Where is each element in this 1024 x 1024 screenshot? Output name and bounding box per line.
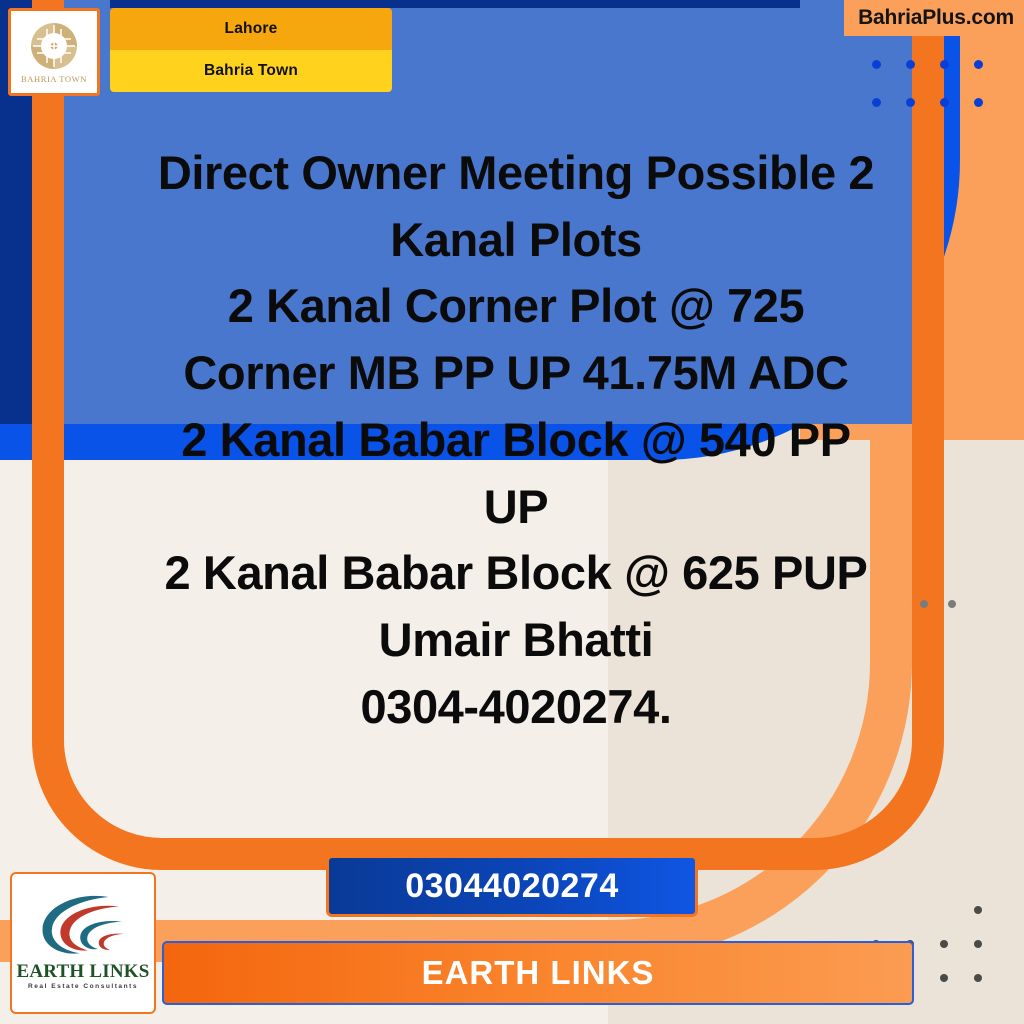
dot-grid-top-right <box>872 60 1008 136</box>
chip-project-label: Bahria Town <box>110 50 392 92</box>
location-chip: Lahore Bahria Town <box>110 8 392 92</box>
agency-brand-bar[interactable]: EARTH LINKS <box>162 941 914 1005</box>
listing-line: Corner MB PP UP 41.75M ADC <box>88 340 944 407</box>
listing-line: UP <box>88 474 944 541</box>
listing-line: 2 Kanal Babar Block @ 625 PUP <box>88 540 944 607</box>
site-brand-label: BahriaPlus.com <box>858 6 1014 30</box>
bahria-town-logo: BAHRIA TOWN <box>8 8 100 96</box>
chip-city-label: Lahore <box>110 8 392 50</box>
listing-line: Umair Bhatti <box>88 607 944 674</box>
earth-links-name: EARTH LINKS <box>17 962 150 981</box>
bahria-town-logo-caption: BAHRIA TOWN <box>21 74 87 84</box>
listing-line: 2 Kanal Babar Block @ 540 PP <box>88 407 944 474</box>
phone-number-button[interactable]: 03044020274 <box>326 855 698 917</box>
earth-links-tagline: Real Estate Consultants <box>28 983 138 990</box>
listing-line: 0304-4020274. <box>88 674 944 741</box>
bahria-town-emblem-icon <box>29 21 79 71</box>
listing-copy: Direct Owner Meeting Possible 2 Kanal Pl… <box>88 140 944 741</box>
listing-line: Direct Owner Meeting Possible 2 <box>88 140 944 207</box>
agency-brand-label: EARTH LINKS <box>422 954 655 992</box>
site-brand-tag[interactable]: BahriaPlus.com <box>844 0 1024 36</box>
listing-line: Kanal Plots <box>88 207 944 274</box>
phone-number-label: 03044020274 <box>405 867 619 906</box>
listing-line: 2 Kanal Corner Plot @ 725 <box>88 273 944 340</box>
flyer-canvas: BahriaPlus.com BAHRIA TOWN <box>0 0 1024 1024</box>
earth-links-swoosh-icon <box>31 886 135 960</box>
earth-links-logo-card: EARTH LINKS Real Estate Consultants <box>10 872 156 1014</box>
